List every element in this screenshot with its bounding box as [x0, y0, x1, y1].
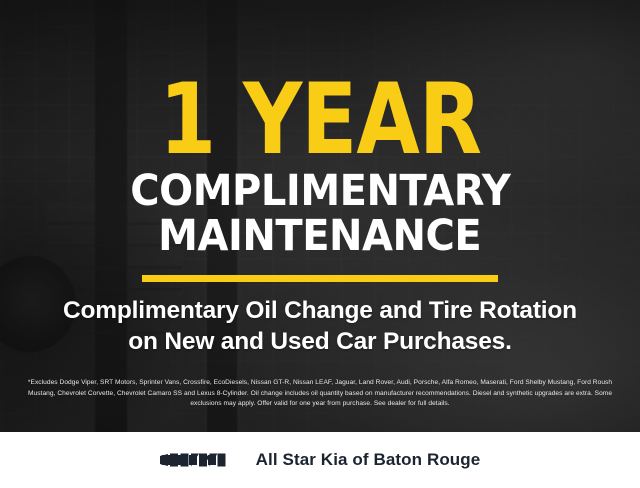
headline-secondary-line-1: COMPLIMENTARY [130, 170, 510, 213]
legal-disclaimer: *Excludes Dodge Viper, SRT Motors, Sprin… [18, 378, 622, 410]
accent-divider [142, 275, 498, 282]
hero-section: 1 YEAR COMPLIMENTARY MAINTENANCE Complim… [0, 0, 640, 432]
offer-description: Complimentary Oil Change and Tire Rotati… [63, 296, 577, 357]
dealer-name: All Star Kia of Baton Rouge [256, 450, 481, 470]
offer-line-1: Complimentary Oil Change and Tire Rotati… [63, 296, 577, 326]
footer-bar: All Star Kia of Baton Rouge [0, 432, 640, 488]
banner-content: 1 YEAR COMPLIMENTARY MAINTENANCE Complim… [0, 0, 640, 432]
promo-banner: 1 YEAR COMPLIMENTARY MAINTENANCE Complim… [0, 0, 640, 488]
offer-line-2: on New and Used Car Purchases. [63, 327, 577, 357]
headline-secondary-line-2: MAINTENANCE [158, 215, 481, 258]
headline-primary: 1 YEAR [159, 78, 481, 162]
kia-logo-icon [160, 449, 238, 471]
